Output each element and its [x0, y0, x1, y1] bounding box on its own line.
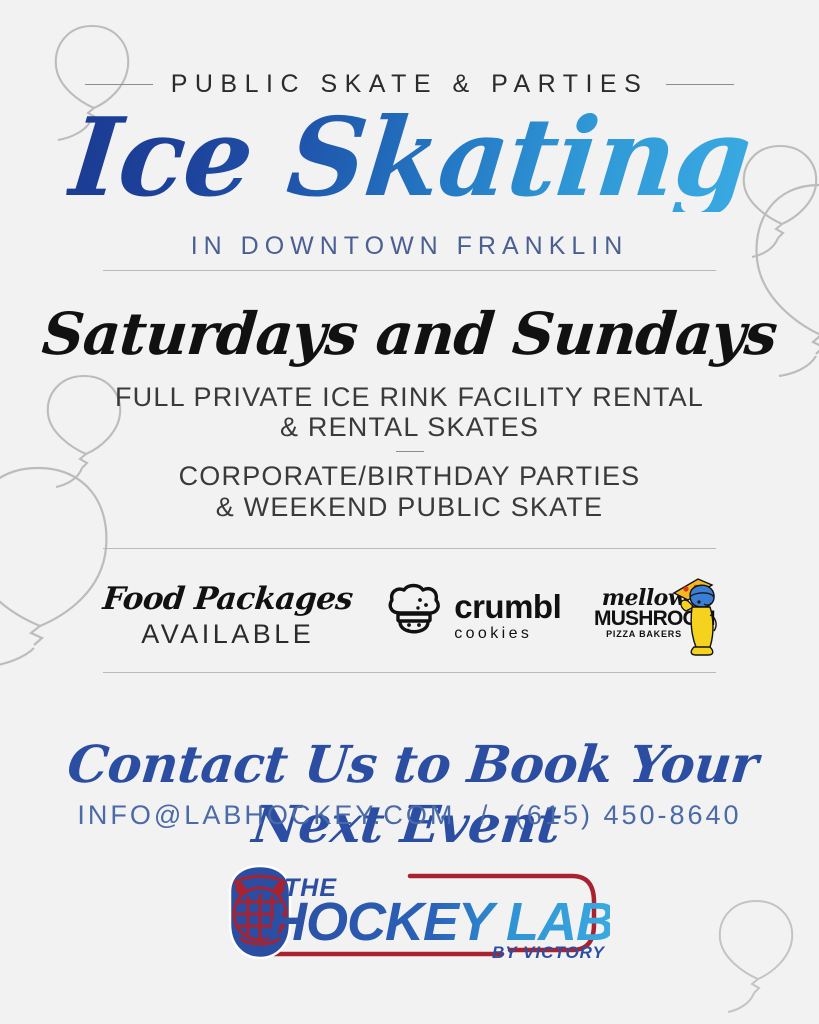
svg-text:BY VICTORY: BY VICTORY — [492, 943, 606, 962]
details-block: FULL PRIVATE ICE RINK FACILITY RENTAL & … — [0, 382, 819, 522]
hockey-lab-logo: THE HOCKEY LAB BY VICTORY — [0, 862, 819, 974]
sponsor-strip: Food Packages AVAILABLE — [103, 566, 716, 666]
crumbl-logo: crumbl cookies — [385, 583, 561, 650]
mellow-mushroom-logo: mellow MUSHROOM PIZZA BAKERS — [594, 573, 716, 659]
crumbl-wordmark: crumbl — [454, 590, 561, 623]
days-heading: Saturdays and Sundays — [0, 300, 819, 368]
contact-headline: Contact Us to Book Your Next Event — [0, 735, 819, 855]
divider-bottom — [103, 672, 716, 673]
detail-line-1: FULL PRIVATE ICE RINK FACILITY RENTAL — [0, 382, 819, 412]
crumbl-tagline: cookies — [454, 626, 561, 642]
hero-subtitle: IN DOWNTOWN FRANKLIN — [0, 232, 819, 261]
food-packages-available: AVAILABLE — [103, 621, 353, 648]
page-title: Ice Skating — [64, 104, 755, 212]
detail-line-2: & RENTAL SKATES — [0, 412, 819, 442]
detail-line-4: & WEEKEND PUBLIC SKATE — [0, 492, 819, 522]
detail-line-3: CORPORATE/BIRTHDAY PARTIES — [0, 461, 819, 491]
chef-hat-cookie-icon — [385, 583, 445, 650]
food-packages-block: Food Packages AVAILABLE — [103, 584, 353, 648]
food-packages-script: Food Packages — [101, 584, 354, 615]
eyebrow-rule-left — [85, 84, 153, 85]
divider-top — [103, 270, 716, 271]
detail-separator — [396, 451, 424, 452]
contact-separator: / — [480, 800, 491, 830]
eyebrow-rule-right — [666, 84, 734, 85]
contact-details: INFO@LABHOCKEY.COM / (615) 450-8640 — [0, 800, 819, 831]
contact-email[interactable]: INFO@LABHOCKEY.COM — [77, 800, 455, 830]
mushroom-character-icon — [668, 571, 720, 662]
divider-middle — [103, 548, 716, 549]
flyer-canvas: PUBLIC SKATE & PARTIES Ice Skating IN DO… — [0, 0, 819, 1024]
contact-phone[interactable]: (615) 450-8640 — [515, 800, 742, 830]
hero-title-wrap: Ice Skating — [0, 104, 819, 234]
